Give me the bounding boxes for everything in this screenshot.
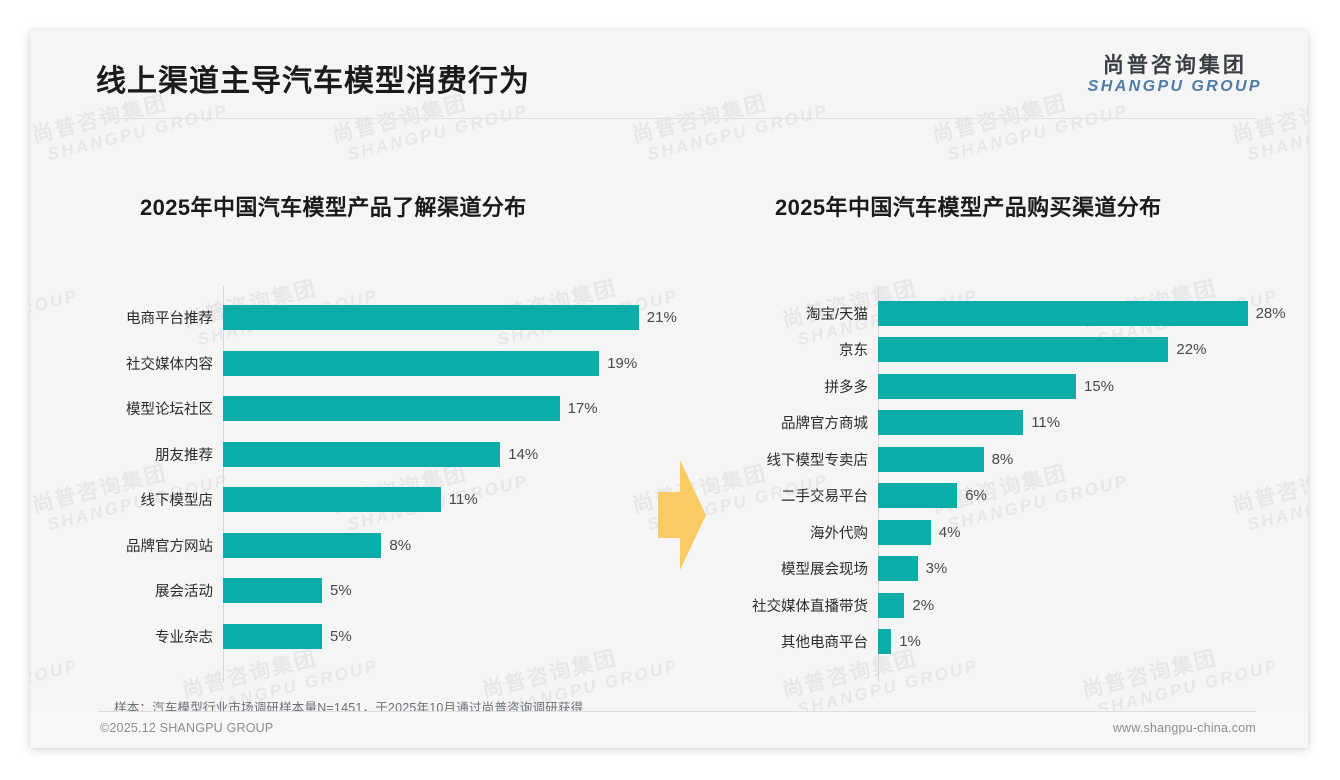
bar-category-label: 社交媒体内容 (85, 353, 223, 374)
bar-value-label: 3% (918, 560, 948, 577)
bar (223, 624, 322, 649)
bar-category-label: 线下模型店 (85, 489, 223, 510)
bar (878, 593, 904, 618)
bar (878, 520, 931, 545)
bar-category-label: 社交媒体直播带货 (715, 595, 878, 616)
bar-value-label: 28% (1248, 305, 1286, 322)
bar-track: 8% (878, 447, 1275, 472)
bar-category-label: 模型展会现场 (715, 558, 878, 579)
bar (223, 442, 500, 467)
chart-panel-awareness: 2025年中国汽车模型产品了解渠道分布 电商平台推荐21%社交媒体内容19%模型… (85, 150, 685, 690)
bar-track: 1% (878, 629, 1275, 654)
bar-category-label: 专业杂志 (85, 626, 223, 647)
bar-row: 线下模型专卖店8% (715, 441, 1275, 478)
bar-value-label: 22% (1168, 341, 1206, 358)
bar-track: 2% (878, 593, 1275, 618)
slide-card: 尚普咨询集团SHANGPU GROUP尚普咨询集团SHANGPU GROUP尚普… (30, 30, 1308, 748)
bar-row: 二手交易平台6% (715, 478, 1275, 515)
bar (878, 556, 918, 581)
bar-track: 15% (878, 374, 1275, 399)
bar (878, 447, 984, 472)
bar-category-label: 海外代购 (715, 522, 878, 543)
bar-rows-awareness: 电商平台推荐21%社交媒体内容19%模型论坛社区17%朋友推荐14%线下模型店1… (85, 295, 685, 659)
bar-row: 电商平台推荐21% (85, 295, 685, 341)
bar-category-label: 模型论坛社区 (85, 398, 223, 419)
bar-category-label: 品牌官方商城 (715, 412, 878, 433)
bar-row: 品牌官方商城11% (715, 405, 1275, 442)
chart-panel-purchase: 2025年中国汽车模型产品购买渠道分布 淘宝/天猫28%京东22%拼多多15%品… (715, 150, 1275, 690)
bar-category-label: 拼多多 (715, 376, 878, 397)
bar-value-label: 4% (931, 524, 961, 541)
bar-row: 模型论坛社区17% (85, 386, 685, 432)
bar (878, 301, 1248, 326)
bar-row: 拼多多15% (715, 368, 1275, 405)
bar-category-label: 展会活动 (85, 580, 223, 601)
bar (223, 578, 322, 603)
charts-container: 2025年中国汽车模型产品了解渠道分布 电商平台推荐21%社交媒体内容19%模型… (30, 150, 1308, 690)
bar-value-label: 21% (639, 309, 677, 326)
bar-value-label: 8% (381, 537, 411, 554)
bar-track: 14% (223, 442, 685, 467)
bar-value-label: 11% (1023, 414, 1060, 431)
chart-title-awareness: 2025年中国汽车模型产品了解渠道分布 (140, 190, 527, 222)
bar-track: 28% (878, 301, 1275, 326)
bar-track: 8% (223, 533, 685, 558)
bar-track: 4% (878, 520, 1275, 545)
bar-row: 朋友推荐14% (85, 432, 685, 478)
bar-track: 19% (223, 351, 685, 376)
bar-value-label: 5% (322, 628, 352, 645)
bar (223, 533, 381, 558)
bar-row: 社交媒体内容19% (85, 341, 685, 387)
bar-row: 专业杂志5% (85, 614, 685, 660)
bar-category-label: 朋友推荐 (85, 444, 223, 465)
bar-category-label: 品牌官方网站 (85, 535, 223, 556)
bar-value-label: 1% (891, 633, 921, 650)
bar-track: 11% (878, 410, 1275, 435)
bar-category-label: 淘宝/天猫 (715, 303, 878, 324)
bar-row: 海外代购4% (715, 514, 1275, 551)
header-divider (98, 118, 1256, 119)
bar-track: 5% (223, 624, 685, 649)
bar (223, 351, 599, 376)
bar-row: 社交媒体直播带货2% (715, 587, 1275, 624)
bar-track: 3% (878, 556, 1275, 581)
page-title: 线上渠道主导汽车模型消费行为 (96, 56, 530, 100)
bar-track: 17% (223, 396, 685, 421)
bar-value-label: 14% (500, 446, 538, 463)
bar-category-label: 其他电商平台 (715, 631, 878, 652)
slide-footer: ©2025.12 SHANGPU GROUP www.shangpu-china… (30, 712, 1308, 748)
bar-row: 品牌官方网站8% (85, 523, 685, 569)
bar-category-label: 线下模型专卖店 (715, 449, 878, 470)
bar-row: 线下模型店11% (85, 477, 685, 523)
bar-value-label: 11% (441, 491, 478, 508)
bar-row: 模型展会现场3% (715, 551, 1275, 588)
bar-track: 11% (223, 487, 685, 512)
plot-area-awareness: 电商平台推荐21%社交媒体内容19%模型论坛社区17%朋友推荐14%线下模型店1… (85, 295, 685, 690)
bar (223, 305, 639, 330)
bar-row: 淘宝/天猫28% (715, 295, 1275, 332)
bar-track: 21% (223, 305, 685, 330)
bar (878, 337, 1168, 362)
plot-area-purchase: 淘宝/天猫28%京东22%拼多多15%品牌官方商城11%线下模型专卖店8%二手交… (715, 295, 1275, 690)
brand-logo: 尚普咨询集团 SHANGPU GROUP (1088, 54, 1262, 96)
bar-value-label: 6% (957, 487, 987, 504)
bar-value-label: 17% (560, 400, 598, 417)
bar (223, 487, 441, 512)
bar-category-label: 二手交易平台 (715, 485, 878, 506)
bar (223, 396, 560, 421)
bar (878, 629, 891, 654)
bar-value-label: 5% (322, 582, 352, 599)
bar (878, 410, 1023, 435)
logo-chinese-text: 尚普咨询集团 (1088, 54, 1262, 78)
right-arrow-icon (658, 460, 706, 570)
bar-value-label: 2% (904, 597, 934, 614)
bar (878, 483, 957, 508)
bar-track: 6% (878, 483, 1275, 508)
bar-category-label: 京东 (715, 339, 878, 360)
chart-title-purchase: 2025年中国汽车模型产品购买渠道分布 (775, 190, 1162, 222)
bar-value-label: 8% (984, 451, 1014, 468)
logo-english-text: SHANGPU GROUP (1088, 78, 1262, 96)
bar-track: 5% (223, 578, 685, 603)
bar-row: 其他电商平台1% (715, 624, 1275, 661)
slide-header: 线上渠道主导汽车模型消费行为 尚普咨询集团 SHANGPU GROUP (30, 30, 1308, 119)
copyright-text: ©2025.12 SHANGPU GROUP (100, 721, 273, 735)
website-link[interactable]: www.shangpu-china.com (1113, 721, 1256, 735)
bar-rows-purchase: 淘宝/天猫28%京东22%拼多多15%品牌官方商城11%线下模型专卖店8%二手交… (715, 295, 1275, 660)
bar-track: 22% (878, 337, 1275, 362)
bar-row: 展会活动5% (85, 568, 685, 614)
bar-value-label: 15% (1076, 378, 1114, 395)
bar-row: 京东22% (715, 332, 1275, 369)
bar (878, 374, 1076, 399)
bar-value-label: 19% (599, 355, 637, 372)
bar-category-label: 电商平台推荐 (85, 307, 223, 328)
